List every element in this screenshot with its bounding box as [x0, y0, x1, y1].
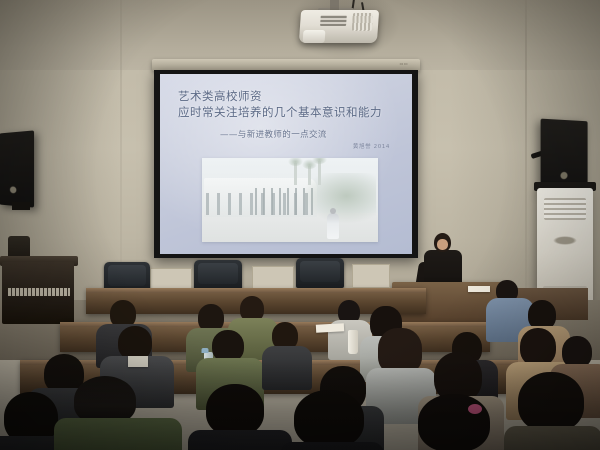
photo-person — [327, 213, 339, 239]
lecture-chair — [194, 260, 242, 290]
slide-title-line-2: 应时常关注培养的几个基本意识和能力 — [178, 104, 408, 120]
slide-title: 艺术类高校师资 应时常关注培养的几个基本意识和能力 — [178, 88, 408, 120]
person-head — [418, 394, 490, 450]
presenter-face — [437, 239, 448, 250]
piano-keys — [8, 288, 70, 296]
person-head — [518, 372, 584, 432]
id-badge — [128, 356, 148, 367]
projector-vent — [352, 13, 373, 31]
person-torso — [262, 346, 312, 390]
projector-lens — [303, 30, 326, 43]
podium-papers — [468, 286, 490, 292]
chair-backrest — [198, 263, 238, 284]
person-head — [294, 390, 364, 448]
lecture-hall-photo: ▭▭ 艺术类高校师资 应时常关注培养的几个基本意识和能力 ——与新进教师的一点交… — [0, 0, 600, 450]
photo-palm-tree — [294, 163, 297, 185]
water-bottle — [348, 330, 358, 354]
speaker-logo — [559, 171, 569, 180]
projector-control-panel — [320, 15, 347, 26]
wall-speaker-left — [0, 130, 34, 207]
chair-backrest — [300, 261, 340, 282]
slide-date: 2014 — [374, 144, 390, 150]
slide-subtitle: ——与新进教师的一点交流 — [220, 128, 410, 140]
wall-panel — [352, 264, 390, 288]
ac-brand-logo — [553, 236, 577, 245]
photo-trees — [302, 173, 376, 223]
photo-palm-tree — [318, 161, 321, 185]
wall-speaker-right — [541, 119, 588, 192]
bottle-cap — [202, 348, 209, 353]
person-torso — [188, 430, 292, 450]
person-torso — [504, 426, 600, 450]
wall-panel — [252, 266, 294, 290]
chair-backrest — [108, 265, 147, 286]
upright-piano — [2, 262, 74, 324]
lecture-chair — [296, 258, 344, 288]
person-torso — [54, 418, 182, 450]
person-torso — [280, 442, 384, 450]
handout-papers — [316, 323, 344, 332]
person-head — [520, 328, 556, 366]
person-head — [206, 384, 264, 436]
desk-surface — [86, 288, 426, 293]
speaker-logo — [8, 186, 17, 194]
person-torso — [406, 446, 510, 450]
hair-tie — [468, 404, 482, 414]
person-head — [118, 326, 152, 360]
slide-photo — [202, 158, 378, 242]
slide-author-date: 黄旭誉 2014 — [353, 142, 390, 150]
ac-vent-grille — [544, 198, 586, 220]
wall-seam — [525, 0, 527, 330]
slide-author-name: 黄旭誉 — [353, 144, 371, 150]
person-beanie-head — [74, 376, 136, 424]
speaker-bracket — [12, 202, 30, 210]
photo-palm-tree — [308, 166, 311, 184]
screen-brand-label: ▭▭ — [400, 61, 408, 66]
slide-title-line-1: 艺术类高校师资 — [178, 88, 408, 104]
projection-screen: 艺术类高校师资 应时常关注培养的几个基本意识和能力 ——与新进教师的一点交流 黄… — [160, 74, 412, 254]
